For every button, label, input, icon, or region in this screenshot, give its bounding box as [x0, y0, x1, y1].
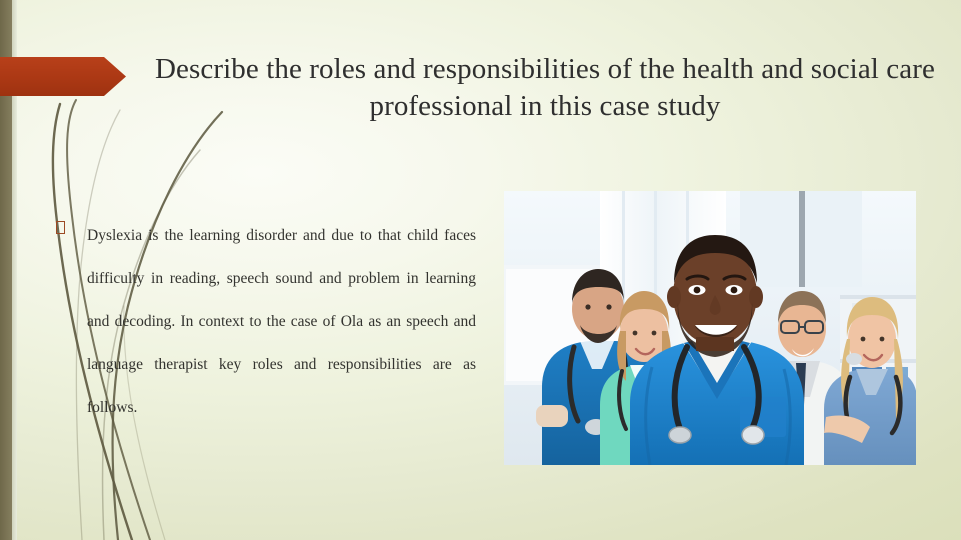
presentation-slide: Describe the roles and responsibilities …	[0, 0, 961, 540]
bullet-paragraph-text: Dyslexia is the learning disorder and du…	[87, 214, 476, 429]
medical-team-photo	[504, 191, 916, 465]
bullet-list-item: Dyslexia is the learning disorder and du…	[56, 214, 476, 429]
photo-illustration	[504, 191, 916, 465]
bullet-box-icon	[56, 221, 65, 234]
red-arrow-banner	[0, 57, 126, 96]
slide-title: Describe the roles and responsibilities …	[150, 51, 940, 125]
body-content-block: Dyslexia is the learning disorder and du…	[56, 214, 476, 429]
